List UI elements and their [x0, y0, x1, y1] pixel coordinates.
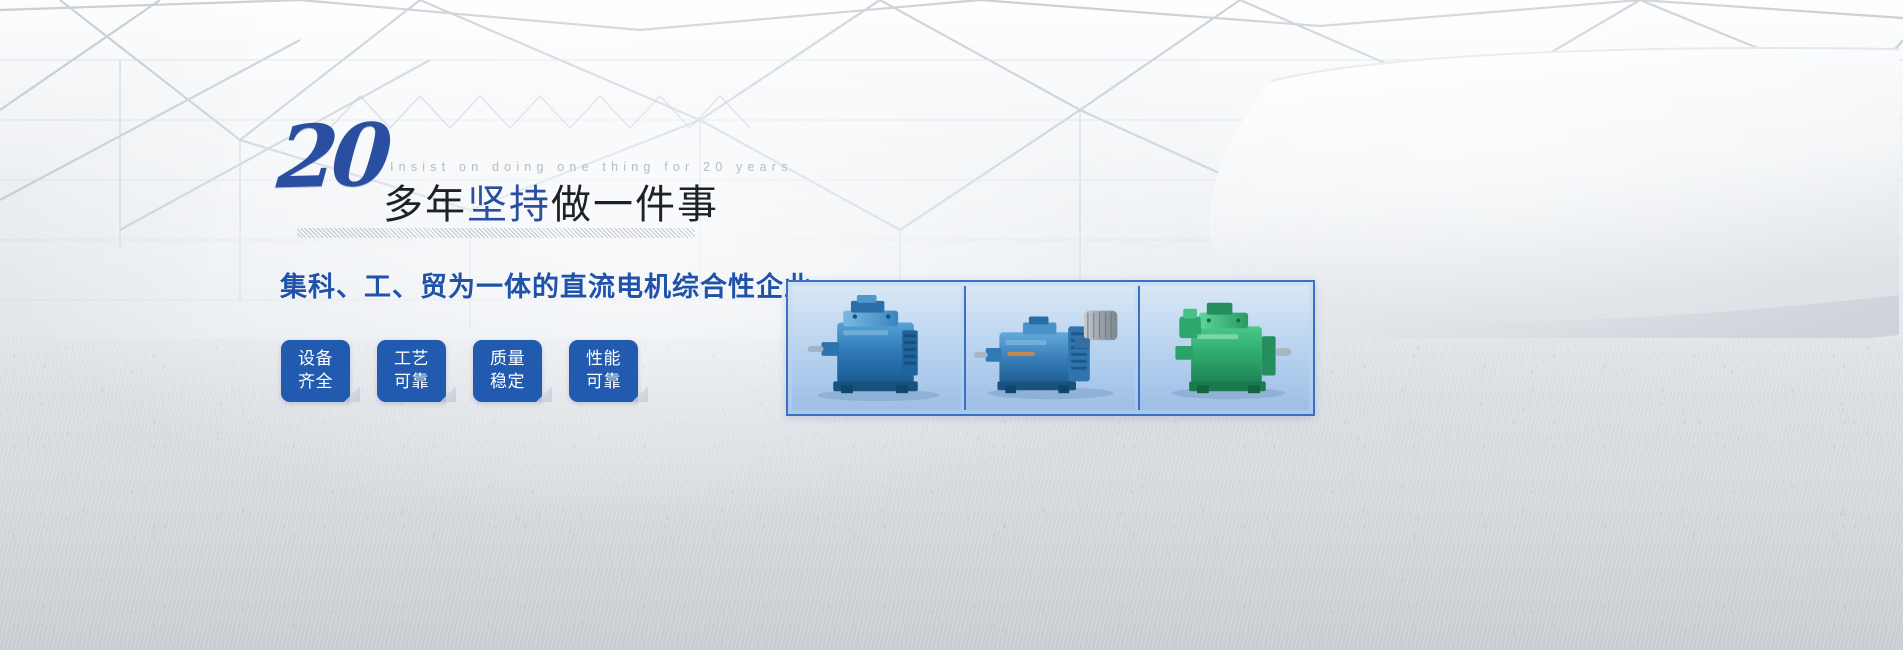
- feature-tag-line2: 稳定: [490, 371, 525, 394]
- banner-content: 20 Insist on doing one thing for 20 year…: [0, 0, 1903, 650]
- blue-dc-motor-icon: [792, 286, 961, 410]
- feature-tag-line1: 设备: [298, 348, 333, 371]
- headline-suffix: 做一件事: [551, 182, 719, 228]
- tag-fold-icon: [344, 384, 360, 402]
- hero-banner: 20 Insist on doing one thing for 20 year…: [0, 0, 1903, 650]
- feature-tag-line1: 性能: [586, 348, 621, 371]
- tag-fold-icon: [536, 384, 552, 402]
- hatched-divider: [297, 228, 695, 238]
- product-image-cell[interactable]: [964, 286, 1135, 410]
- product-showcase-panel: [786, 280, 1315, 416]
- feature-tag-line1: 工艺: [394, 348, 429, 371]
- feature-tag[interactable]: 质量 稳定: [473, 340, 542, 402]
- tag-fold-icon: [632, 384, 648, 402]
- headline-block: 20 Insist on doing one thing for 20 year…: [278, 126, 918, 216]
- feature-tag[interactable]: 设备 齐全: [281, 340, 350, 402]
- headline-highlight: 坚持: [467, 182, 551, 228]
- feature-tag-line2: 可靠: [586, 371, 621, 394]
- feature-tag-list: 设备 齐全 工艺 可靠 质量 稳定 性能 可靠: [281, 340, 638, 402]
- green-dc-motor-icon: [1140, 286, 1309, 410]
- feature-tag-line1: 质量: [490, 348, 525, 371]
- headline-prefix: 多年: [383, 182, 467, 228]
- blue-dc-motor-with-blower-icon: [966, 286, 1135, 410]
- banner-subtitle: 集科、工、贸为一体的直流电机综合性企业: [280, 265, 812, 304]
- feature-tag[interactable]: 工艺 可靠: [377, 340, 446, 402]
- feature-tag[interactable]: 性能 可靠: [569, 340, 638, 402]
- chinese-headline: 多年坚持做一件事: [383, 172, 719, 230]
- years-number: 20: [274, 113, 389, 202]
- feature-tag-line2: 齐全: [298, 371, 333, 394]
- product-image-cell[interactable]: [1138, 286, 1309, 410]
- tag-fold-icon: [440, 384, 456, 402]
- product-image-cell[interactable]: [792, 286, 961, 410]
- feature-tag-line2: 可靠: [394, 371, 429, 394]
